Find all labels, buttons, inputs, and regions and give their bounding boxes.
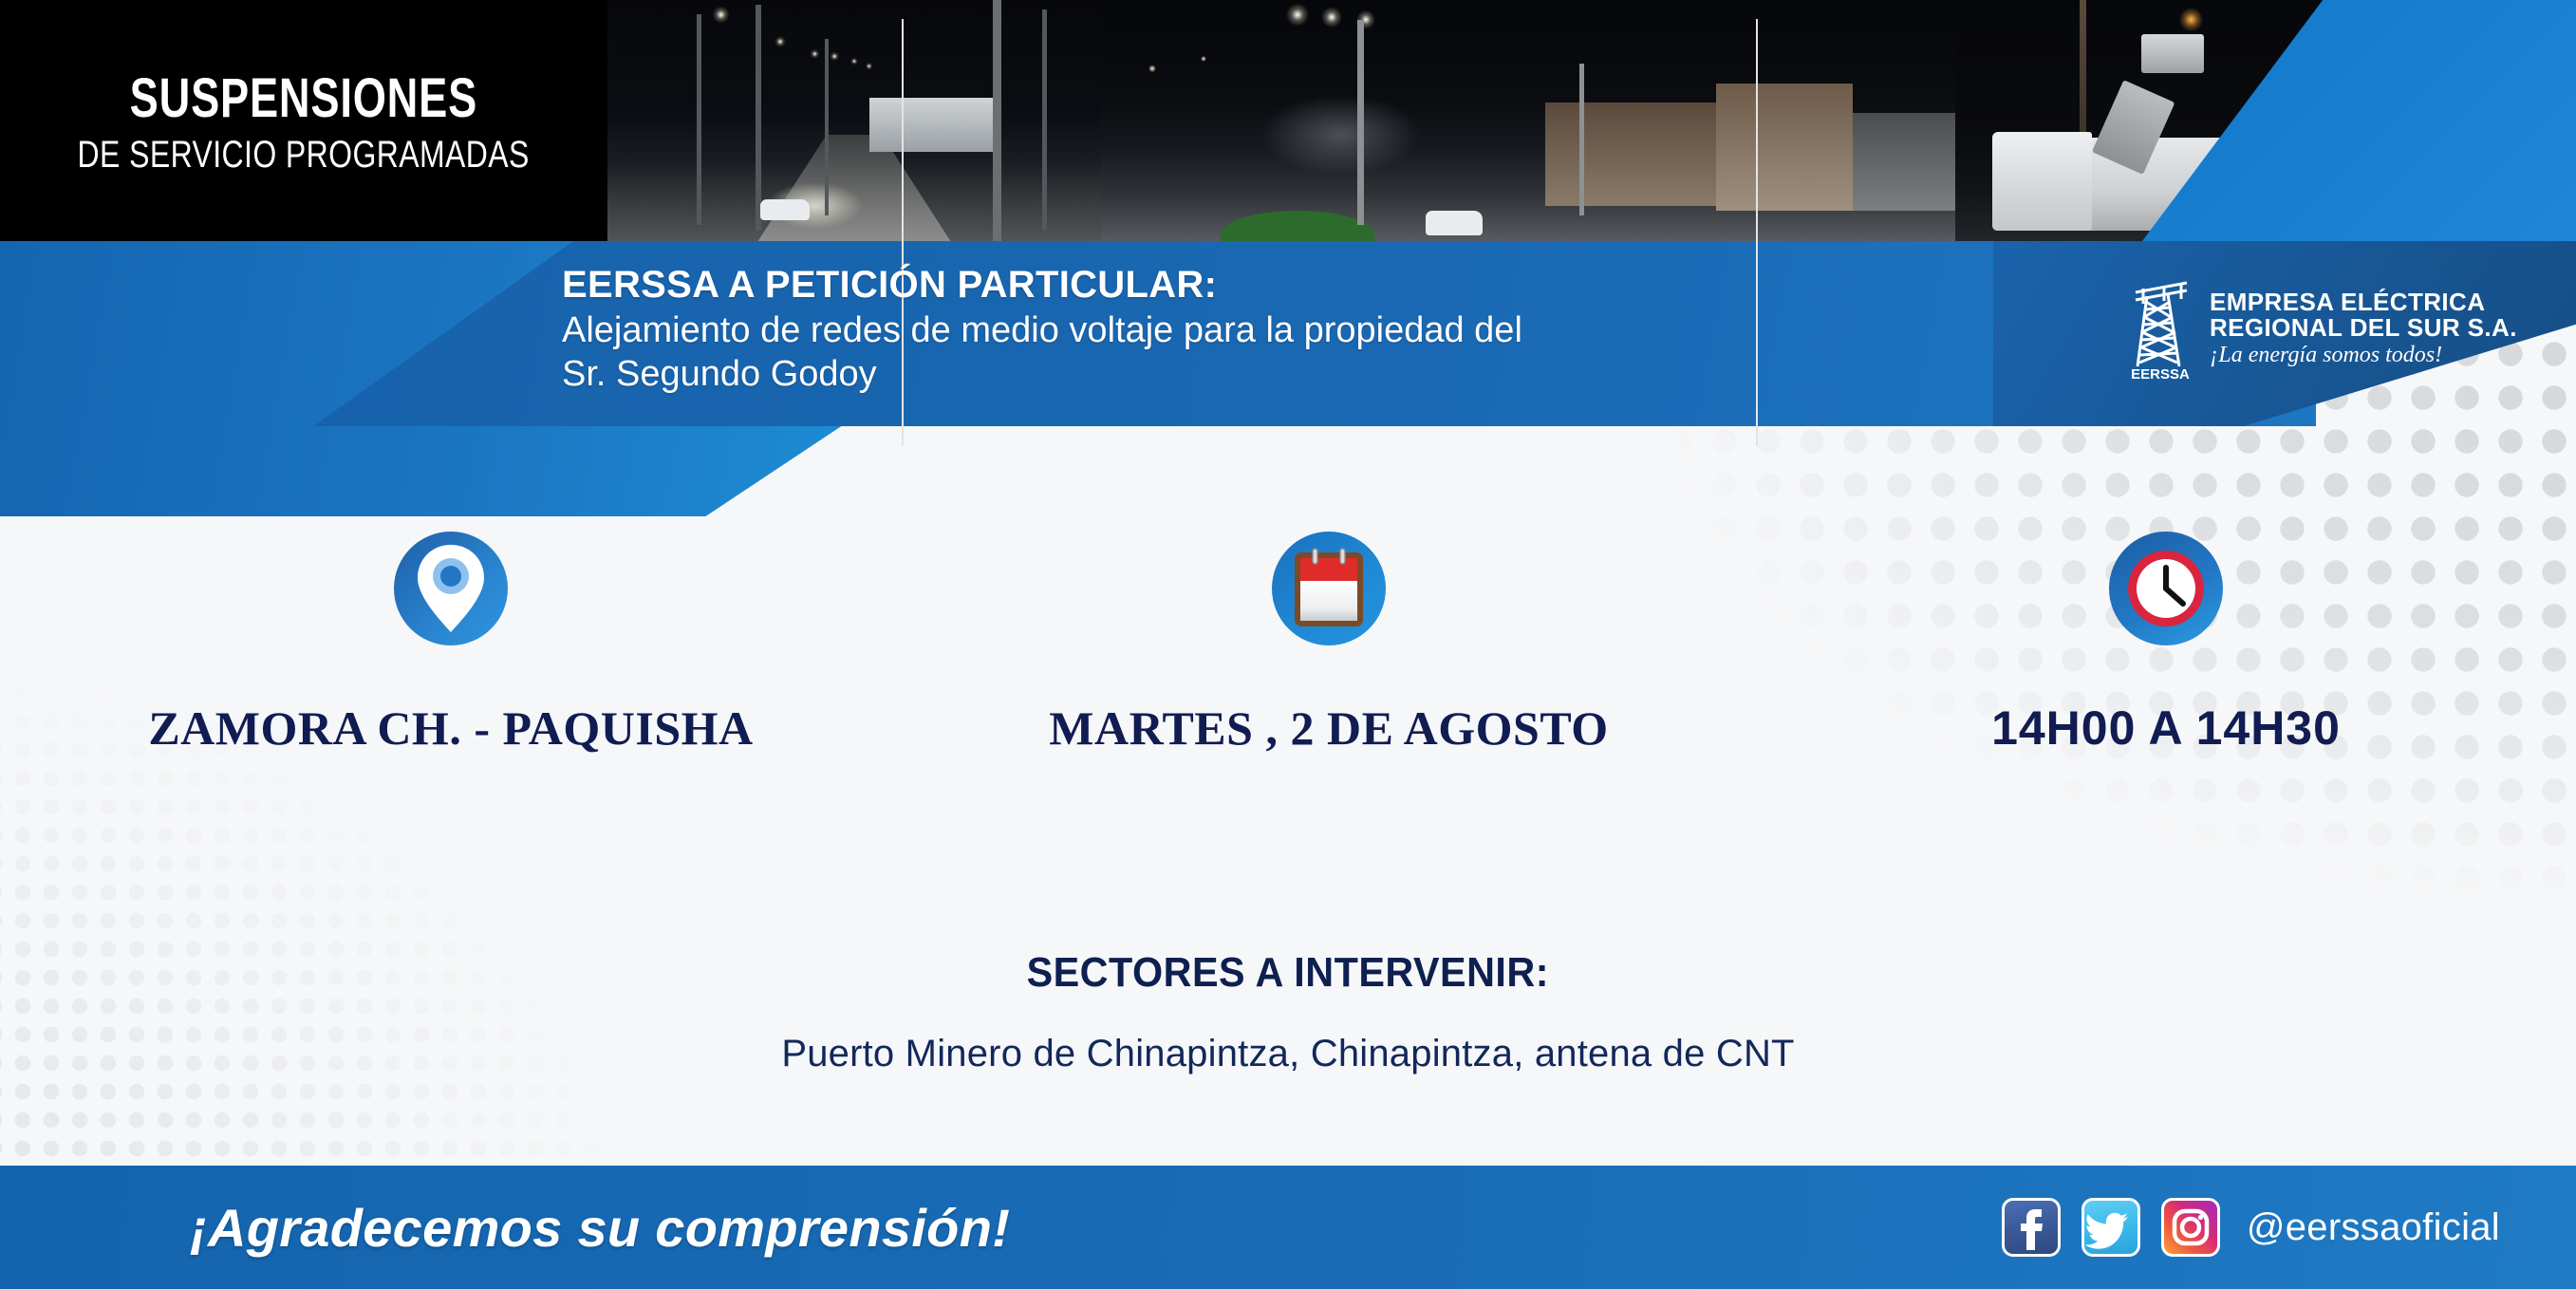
header-photo-strip: SUSPENSIONES DE SERVICIO PROGRAMADAS: [0, 0, 2576, 245]
calendar-icon: [1272, 532, 1386, 645]
date-label: MARTES , 2 DE AGOSTO: [1049, 701, 1608, 756]
time-label: 14H00 A 14H30: [1991, 701, 2341, 756]
footer-bar: ¡Agradecemos su comprensión! @eerssao: [0, 1166, 2576, 1289]
eerssa-logo: EERSSA EMPRESA ELÉCTRICA REGIONAL DEL SU…: [2126, 275, 2517, 382]
banner-line-2: Sr. Segundo Godoy: [562, 352, 1522, 396]
banner-line-1: Alejamiento de redes de medio voltaje pa…: [562, 308, 1522, 352]
info-column-date: MARTES , 2 DE AGOSTO: [902, 532, 1756, 930]
photo-bucket-truck-night: [1955, 0, 2576, 245]
footer-message: ¡Agradecemos su comprensión!: [190, 1197, 1010, 1259]
logo-mark-text: EERSSA: [2131, 366, 2190, 382]
sectors-title: SECTORES A INTERVENIR:: [1027, 949, 1549, 997]
poster-title-panel: SUSPENSIONES DE SERVICIO PROGRAMADAS: [0, 0, 607, 245]
page-title: SUSPENSIONES: [130, 71, 477, 126]
facebook-icon[interactable]: [2002, 1198, 2061, 1257]
banner-heading: EERSSA A PETICIÓN PARTICULAR:: [562, 262, 1522, 308]
column-divider-2: [1756, 19, 1758, 446]
logo-line-2: REGIONAL DEL SUR S.A.: [2210, 315, 2517, 341]
page-subtitle: DE SERVICIO PROGRAMADAS: [78, 136, 530, 174]
social-links: @eerssaoficial: [2002, 1198, 2500, 1257]
instagram-icon[interactable]: [2161, 1198, 2220, 1257]
twitter-icon[interactable]: [2081, 1198, 2140, 1257]
location-label: ZAMORA CH. - PAQUISHA: [148, 701, 753, 756]
info-column-location: ZAMORA CH. - PAQUISHA: [0, 532, 902, 930]
sectors-section: SECTORES A INTERVENIR: Puerto Minero de …: [0, 949, 2576, 1075]
location-pin-icon: [394, 532, 508, 645]
info-columns: ZAMORA CH. - PAQUISHA: [0, 532, 2576, 930]
logo-tagline: ¡La energía somos todos!: [2210, 344, 2517, 367]
banner-text-block: EERSSA A PETICIÓN PARTICULAR: Alejamient…: [562, 262, 1522, 397]
clock-icon: [2109, 532, 2223, 645]
photo-night-town-street: [1101, 0, 1955, 245]
sectors-list: Puerto Minero de Chinapintza, Chinapintz…: [0, 1033, 2576, 1075]
suspension-notice-poster: SUSPENSIONES DE SERVICIO PROGRAMADAS EER…: [0, 0, 2576, 1289]
social-handle[interactable]: @eerssaoficial: [2247, 1206, 2500, 1249]
info-column-time: 14H00 A 14H30: [1756, 532, 2576, 930]
logo-line-1: EMPRESA ELÉCTRICA: [2210, 290, 2517, 315]
photo-night-street-with-car: [607, 0, 1101, 245]
transmission-tower-icon: EERSSA: [2126, 275, 2194, 382]
